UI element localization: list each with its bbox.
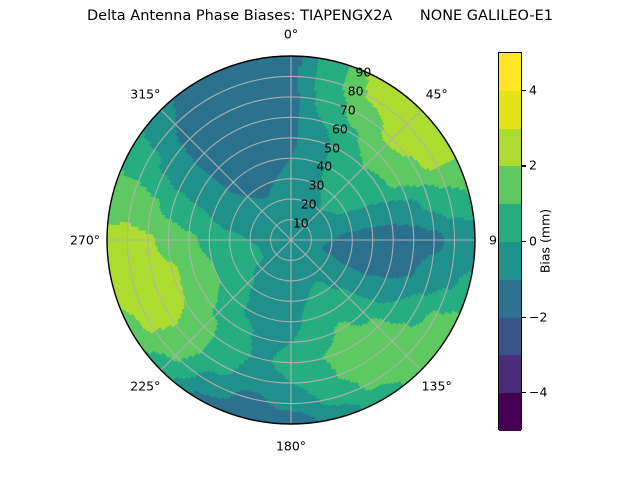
- colorbar-axis-label: Bias (mm): [538, 209, 553, 273]
- colorbar-gradient: [498, 52, 522, 430]
- angular-tick-45: 45°: [426, 87, 448, 102]
- colorbar-band-7: [499, 129, 521, 167]
- colorbar-tick-mark-4: [522, 90, 526, 91]
- colorbar-tick-mark-2: [522, 241, 526, 242]
- colorbar-tick-mark-0: [522, 392, 526, 393]
- radial-tick-90: 90: [355, 65, 371, 80]
- angular-tick-270: 270°: [70, 233, 100, 248]
- colorbar-band-6: [499, 166, 521, 204]
- colorbar-band-0: [499, 393, 521, 431]
- radial-tick-50: 50: [324, 140, 340, 155]
- radial-tick-10: 10: [293, 216, 309, 231]
- angular-tick-180: 180°: [276, 439, 306, 454]
- colorbar-tick-label-1: −2: [529, 309, 547, 324]
- radial-tick-60: 60: [332, 121, 348, 136]
- colorbar-band-9: [499, 53, 521, 91]
- radial-tick-80: 80: [348, 83, 364, 98]
- colorbar-band-1: [499, 355, 521, 393]
- polar-gridlines: [107, 56, 475, 424]
- radial-tick-20: 20: [301, 197, 317, 212]
- colorbar-tick-label-4: 4: [529, 82, 537, 97]
- colorbar-band-4: [499, 242, 521, 280]
- angular-tick-225: 225°: [130, 378, 160, 393]
- angular-tick-135: 135°: [422, 378, 452, 393]
- figure-canvas: Delta Antenna Phase Biases: TIAPENGX2A N…: [0, 0, 640, 480]
- colorbar-tick-label-3: 2: [529, 158, 537, 173]
- radial-tick-30: 30: [309, 178, 325, 193]
- colorbar-tick-label-2: 0: [529, 234, 537, 249]
- radial-tick-70: 70: [340, 102, 356, 117]
- colorbar-tick-mark-1: [522, 317, 526, 318]
- angular-tick-0: 0°: [284, 27, 298, 42]
- colorbar-tick-mark-3: [522, 165, 526, 166]
- colorbar-band-3: [499, 280, 521, 318]
- colorbar-tick-label-0: −4: [529, 385, 547, 400]
- colorbar: −4−2024: [498, 52, 522, 430]
- colorbar-band-8: [499, 91, 521, 129]
- radial-tick-40: 40: [316, 159, 332, 174]
- colorbar-band-5: [499, 204, 521, 242]
- colorbar-band-2: [499, 318, 521, 356]
- angular-tick-315: 315°: [130, 87, 160, 102]
